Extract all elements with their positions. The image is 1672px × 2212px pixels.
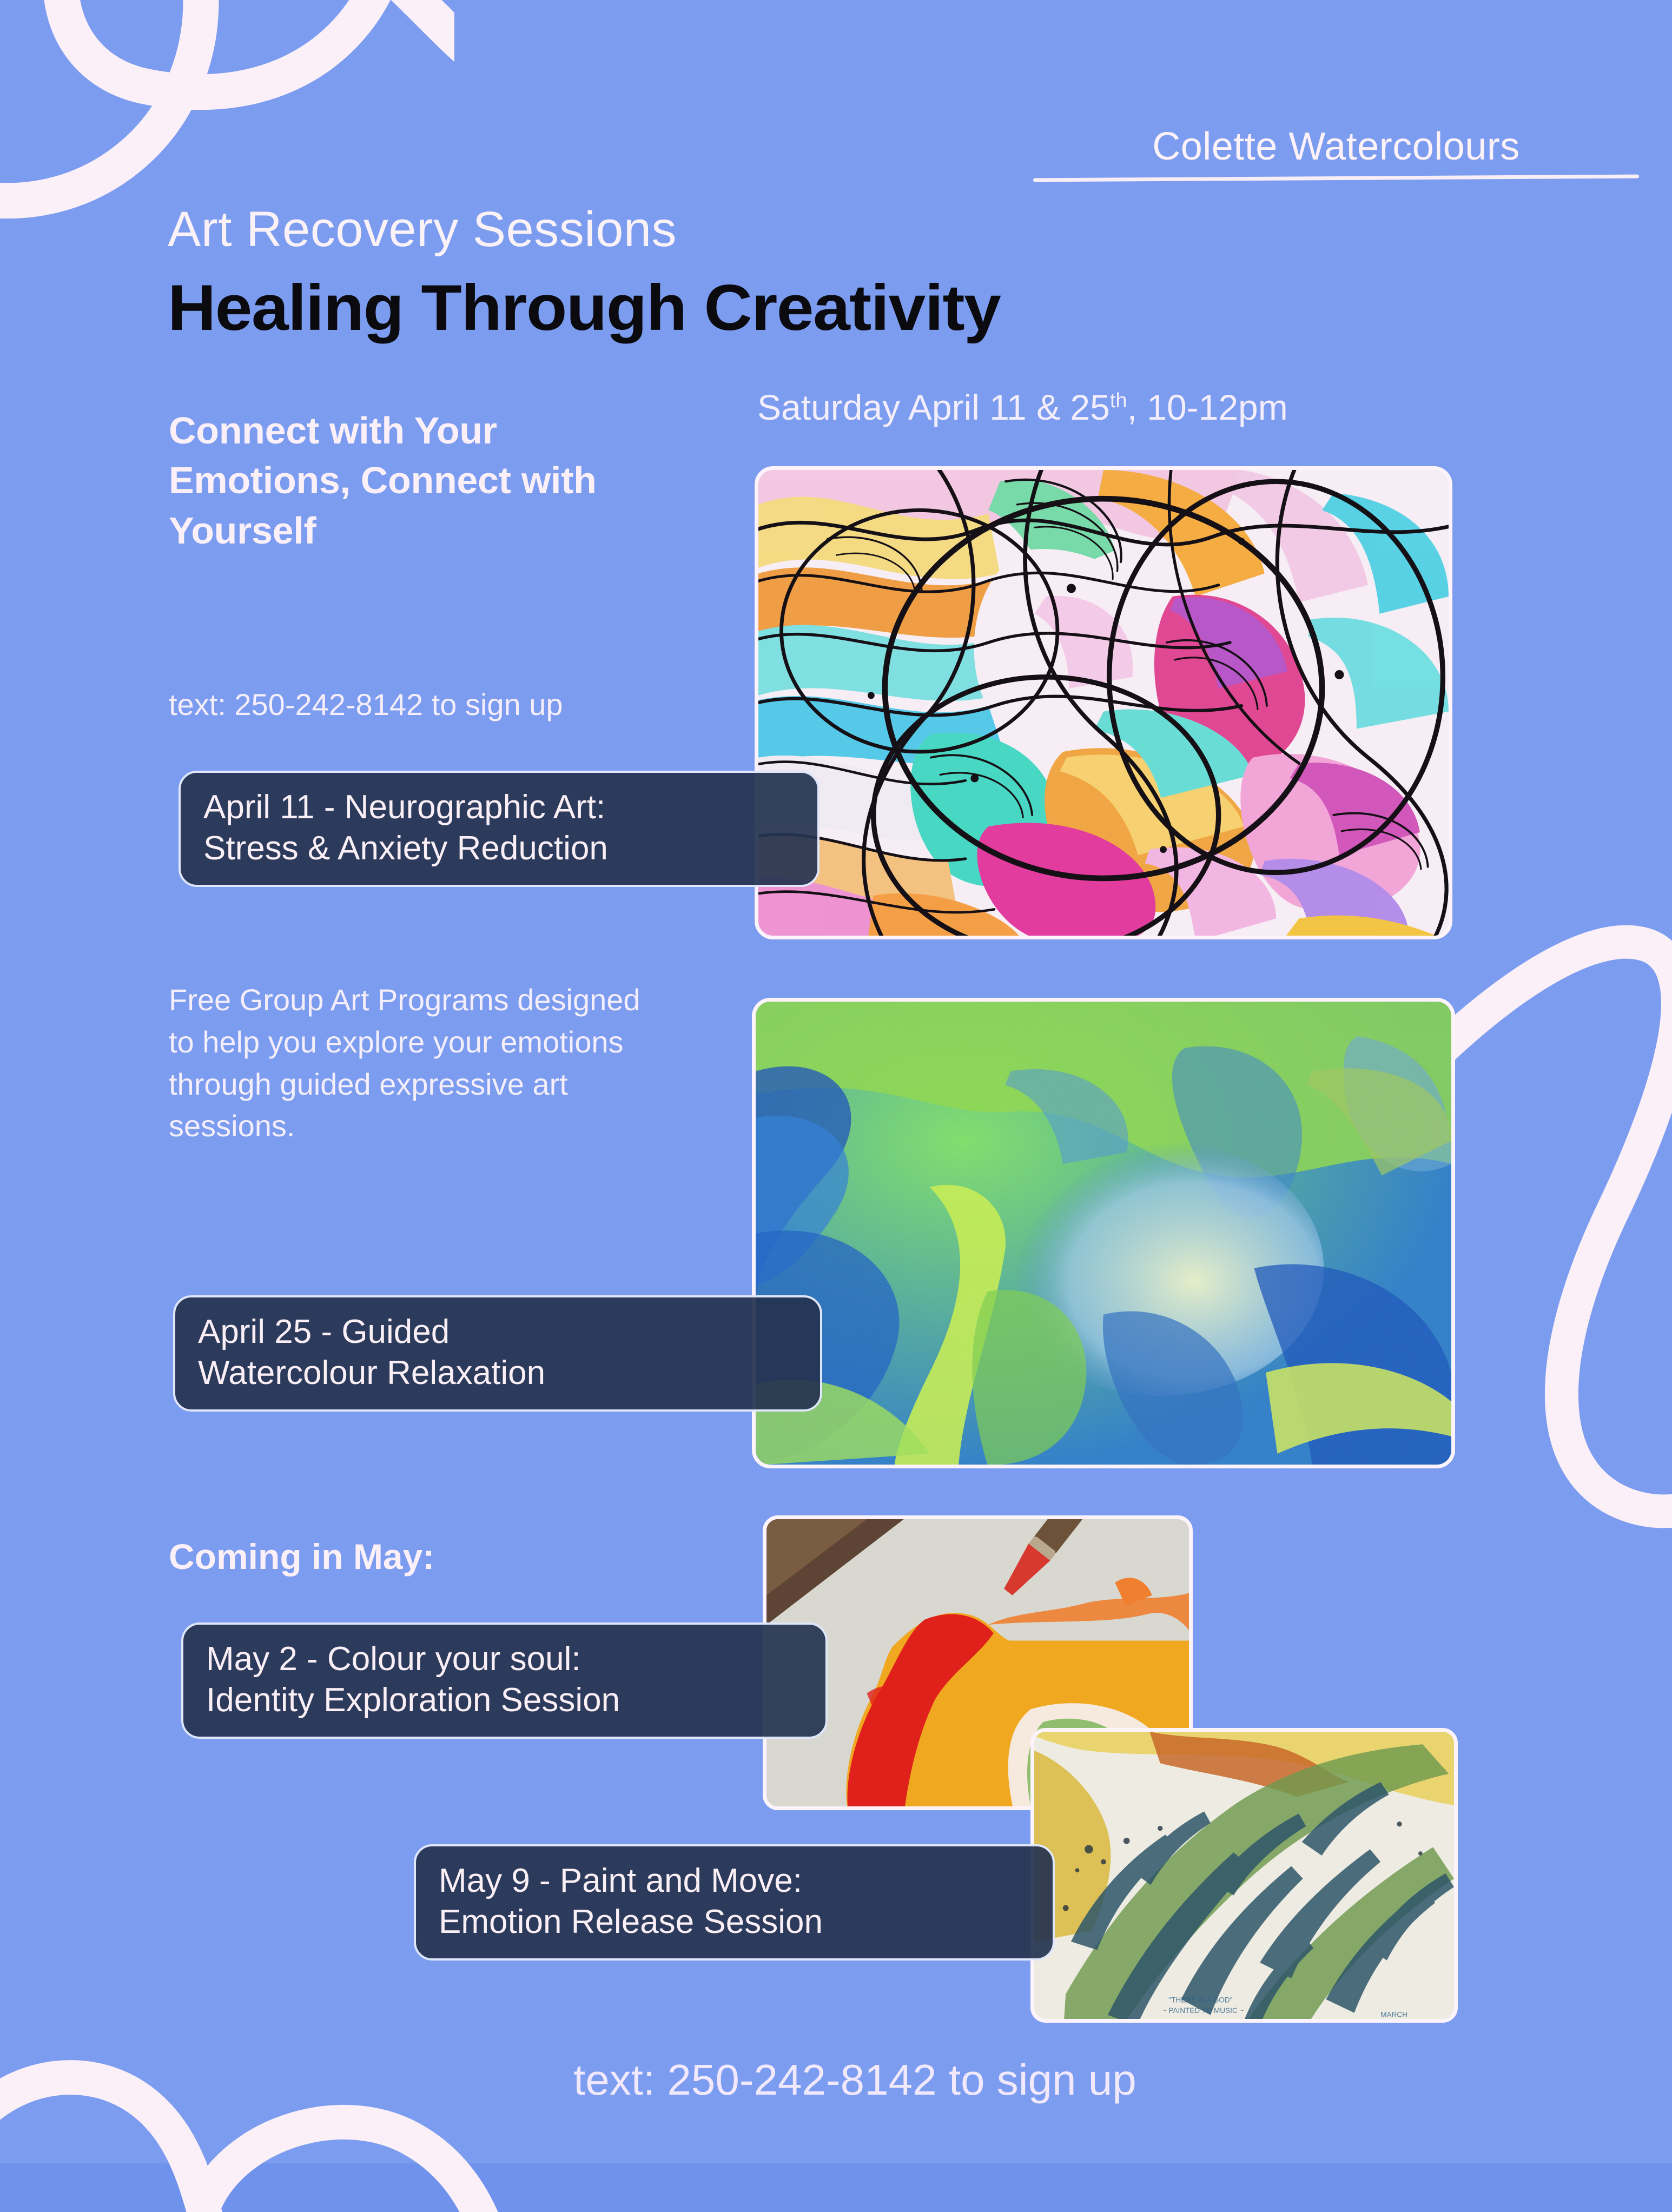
session-line-1: April 11 - Neurographic Art: [203,789,605,826]
session-chip-may-9[interactable]: May 9 - Paint and Move: Emotion Release … [414,1844,1055,1961]
session-line-2: Stress & Anxiety Reduction [203,828,796,869]
session-chip-apr-11[interactable]: April 11 - Neurographic Art: Stress & An… [179,771,820,887]
svg-text:"THERE IS A GOD": "THERE IS A GOD" [1168,1996,1232,2004]
event-datetime: Saturday April 11 & 25th, 10-12pm [757,387,1288,428]
tagline: Connect with Your Emotions, Connect with… [169,406,612,555]
session-line-2: Watercolour Relaxation [198,1353,798,1394]
brand-underline [1033,175,1639,182]
event-datetime-superscript: th [1110,389,1127,412]
event-datetime-suffix: , 10-12pm [1127,387,1288,427]
brand-block: Colette Watercolours [1033,124,1639,180]
photo-neurographic-art [755,466,1452,939]
decorative-ribbon-bottom-left [0,2034,508,2212]
watercolour-wash-illustration [756,1002,1451,1465]
coming-in-may-heading: Coming in May: [169,1536,434,1577]
signup-instruction-bottom[interactable]: text: 250-242-8142 to sign up [573,2055,1136,2105]
event-datetime-prefix: Saturday April 11 & 25 [757,387,1110,427]
photo-watercolour-blue-green [752,998,1455,1468]
session-line-1: May 9 - Paint and Move: [439,1862,802,1899]
session-line-2: Emotion Release Session [439,1902,1031,1943]
session-chip-apr-25[interactable]: April 25 - Guided Watercolour Relaxation [173,1295,822,1412]
svg-text:~ PAINTED TO MUSIC ~: ~ PAINTED TO MUSIC ~ [1162,2006,1244,2015]
session-chip-may-2[interactable]: May 2 - Colour your soul: Identity Explo… [181,1622,828,1739]
session-line-1: April 25 - Guided [198,1313,450,1350]
signup-instruction-top[interactable]: text: 250-242-8142 to sign up [169,687,563,722]
green-brushstrokes-illustration: "THERE IS A GOD" ~ PAINTED TO MUSIC ~ MA… [1034,1732,1454,2023]
kicker-text: Art Recovery Sessions [168,201,677,258]
page-title: Healing Through Creativity [168,270,1000,345]
brand-name: Colette Watercolours [1033,124,1639,169]
session-line-1: May 2 - Colour your soul: [206,1640,581,1678]
neurographic-art-illustration [758,470,1449,939]
session-line-2: Identity Exploration Session [206,1680,804,1721]
photo-green-brushstrokes: "THERE IS A GOD" ~ PAINTED TO MUSIC ~ MA… [1030,1728,1458,2023]
program-description: Free Group Art Programs designed to help… [169,979,656,1147]
svg-text:MARCH: MARCH [1380,2011,1407,2019]
